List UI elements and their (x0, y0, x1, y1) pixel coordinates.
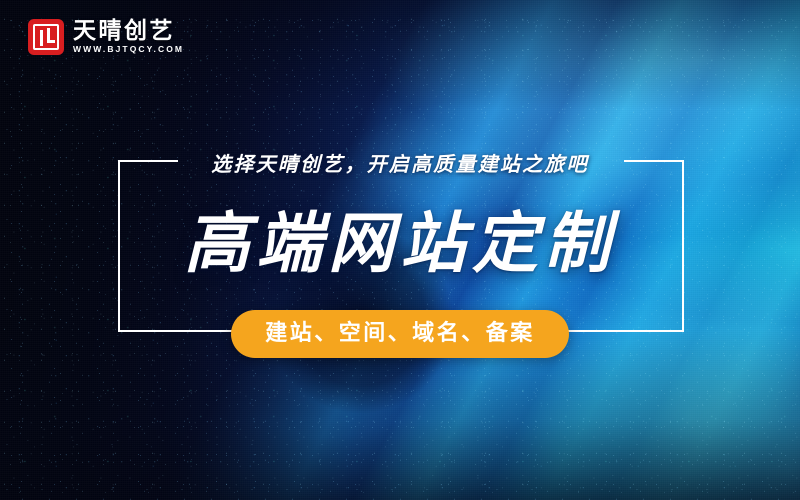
hero-tagline: 选择天晴创艺，开启高质量建站之旅吧 (0, 148, 800, 177)
logo-text-block: 天晴创艺 WWW.BJTQCY.COM (73, 18, 184, 56)
brand-logo[interactable]: 天晴创艺 WWW.BJTQCY.COM (28, 18, 184, 56)
hero-pill-container: 建站、空间、域名、备案 (0, 310, 800, 358)
logo-website-url: WWW.BJTQCY.COM (73, 44, 184, 56)
logo-company-name: 天晴创艺 (73, 18, 184, 42)
promo-banner: 天晴创艺 WWW.BJTQCY.COM 选择天晴创艺，开启高质量建站之旅吧 高端… (0, 0, 800, 500)
hero-headline: 高端网站定制 (0, 205, 800, 283)
logo-mark-stroke-3 (47, 40, 55, 43)
logo-mark-stroke-1 (40, 30, 43, 46)
logo-mark-frame (33, 24, 59, 50)
services-pill-button[interactable]: 建站、空间、域名、备案 (231, 310, 569, 358)
logo-mark-icon (28, 19, 64, 55)
